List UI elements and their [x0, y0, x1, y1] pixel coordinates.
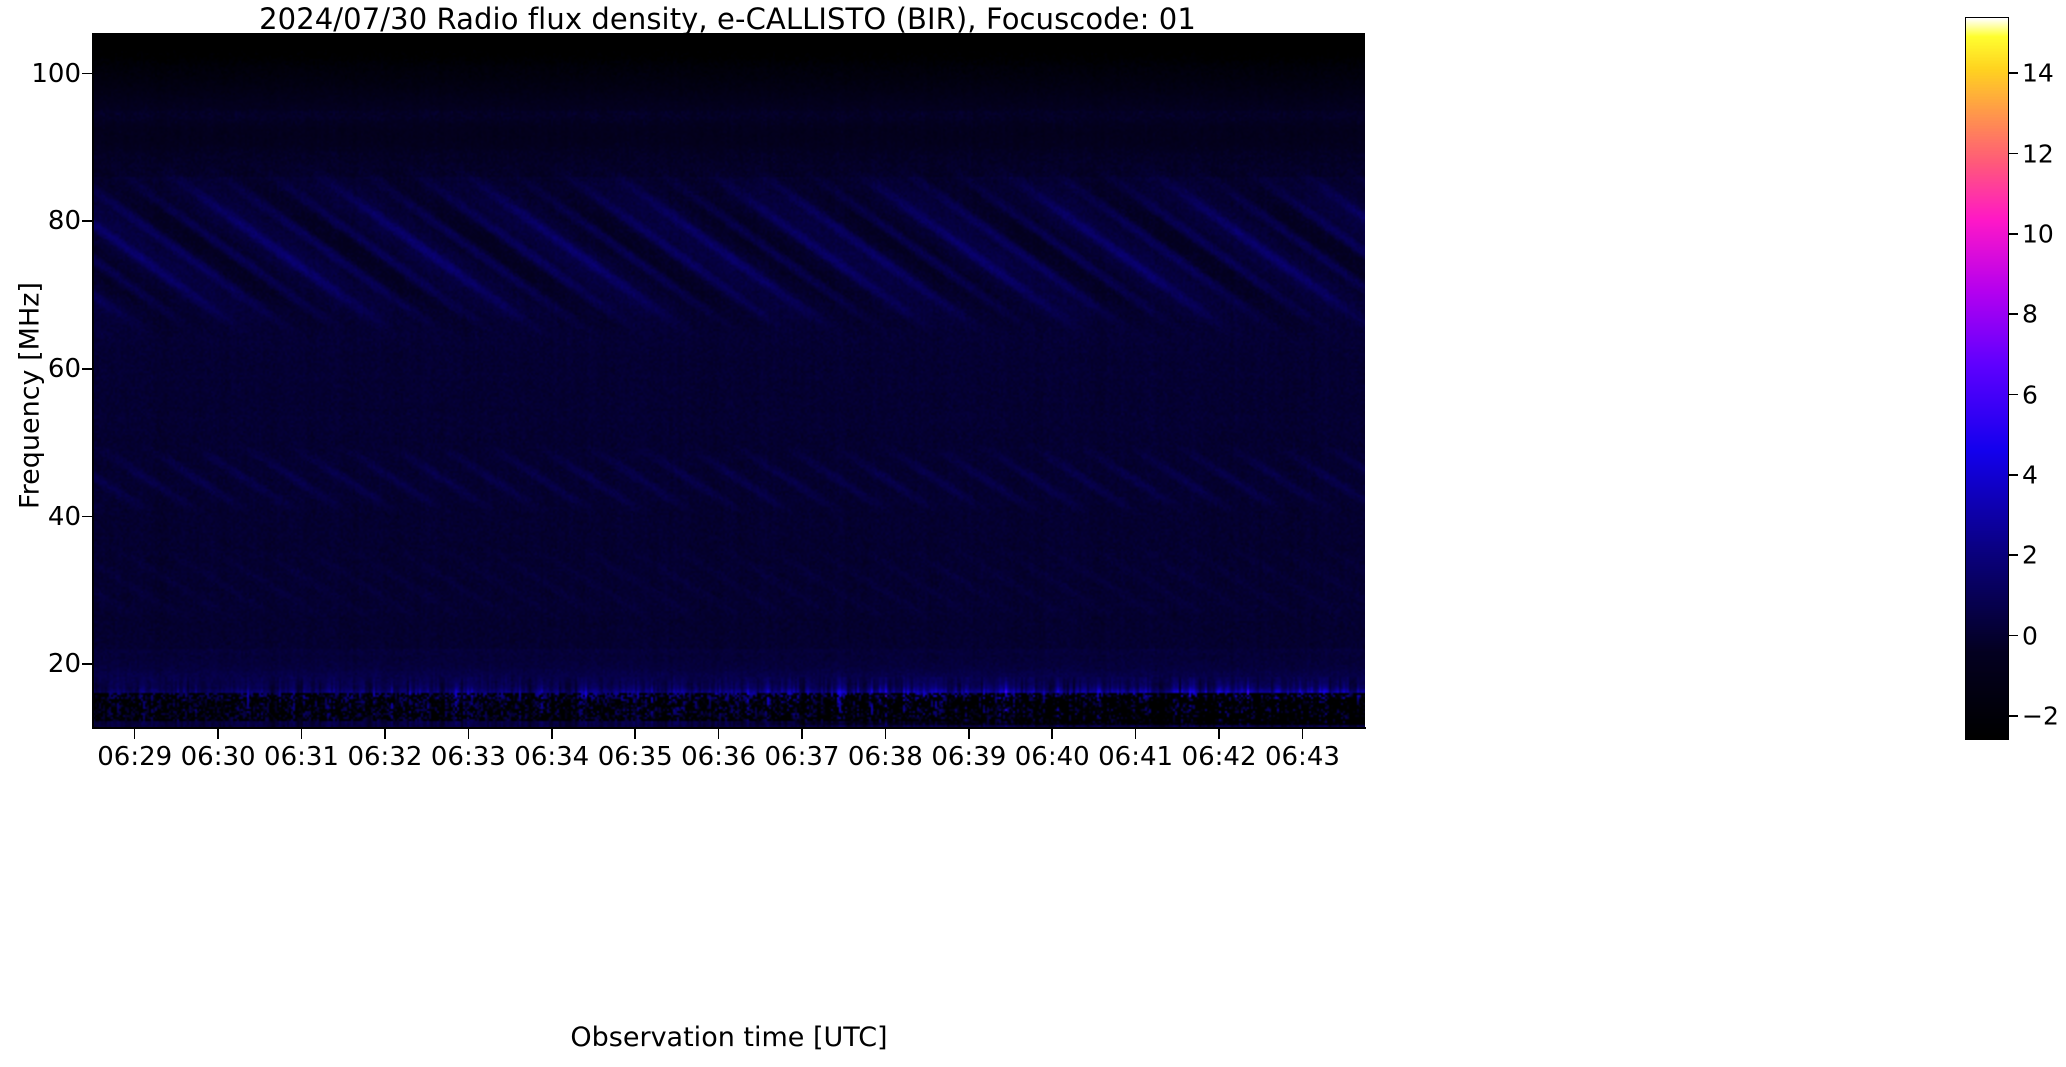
x-tick-label: 06:33: [431, 742, 506, 772]
colorbar-tick-mark: [2009, 72, 2018, 74]
colorbar-tick-mark: [2009, 313, 2018, 315]
x-tick-mark: [801, 728, 803, 739]
x-tick-mark: [968, 728, 970, 739]
colorbar-tick-label: 0: [2022, 621, 2038, 650]
y-axis-spine: [92, 33, 94, 728]
x-tick-mark: [634, 728, 636, 739]
x-tick-mark: [551, 728, 553, 739]
x-tick-label: 06:30: [181, 742, 256, 772]
colorbar-tick-label: 8: [2022, 300, 2038, 329]
colorbar-tick-mark: [2009, 635, 2018, 637]
y-tick-mark: [82, 516, 93, 518]
x-tick-label: 06:39: [931, 742, 1006, 772]
y-tick-mark: [82, 73, 93, 75]
y-tick-mark: [82, 220, 93, 222]
colorbar-tick-mark: [2009, 153, 2018, 155]
colorbar-tick-mark: [2009, 474, 2018, 476]
colorbar-tick-label: 10: [2022, 219, 2054, 248]
x-tick-mark: [1051, 728, 1053, 739]
spectrogram-plot: [93, 33, 1365, 727]
y-tick-label: 80: [48, 206, 81, 236]
colorbar: [1965, 17, 2009, 740]
x-tick-mark: [885, 728, 887, 739]
x-tick-mark: [217, 728, 219, 739]
colorbar-tick-label: 6: [2022, 380, 2038, 409]
x-tick-mark: [718, 728, 720, 739]
x-tick-label: 06:42: [1182, 742, 1257, 772]
colorbar-tick-mark: [2009, 554, 2018, 556]
x-tick-label: 06:36: [681, 742, 756, 772]
y-tick-mark: [82, 368, 93, 370]
y-tick-label: 100: [31, 59, 81, 89]
colorbar-tick-mark: [2009, 715, 2018, 717]
colorbar-gradient: [1966, 18, 2008, 739]
x-tick-label: 06:34: [514, 742, 589, 772]
y-tick-label: 60: [48, 354, 81, 384]
colorbar-tick-label: 4: [2022, 460, 2038, 489]
x-tick-mark: [1218, 728, 1220, 739]
x-tick-mark: [134, 728, 136, 739]
x-tick-label: 06:41: [1098, 742, 1173, 772]
x-tick-label: 06:32: [347, 742, 422, 772]
y-tick-label: 20: [48, 649, 81, 679]
colorbar-tick-label: 14: [2022, 59, 2054, 88]
x-axis-label: Observation time [UTC]: [93, 1022, 1365, 1053]
figure-title: 2024/07/30 Radio flux density, e-CALLIST…: [0, 2, 1455, 36]
x-tick-mark: [384, 728, 386, 739]
x-tick-label: 06:40: [1015, 742, 1090, 772]
y-axis-label: Frequency [MHz]: [15, 226, 46, 566]
x-tick-label: 06:43: [1265, 742, 1340, 772]
colorbar-tick-label: −2: [2022, 701, 2059, 730]
y-tick-mark: [82, 663, 93, 665]
x-tick-label: 06:37: [765, 742, 840, 772]
y-tick-label: 40: [48, 502, 81, 532]
spectrogram-figure: 2024/07/30 Radio flux density, e-CALLIST…: [0, 0, 2066, 1067]
x-tick-mark: [1302, 728, 1304, 739]
x-tick-label: 06:38: [848, 742, 923, 772]
colorbar-tick-label: 2: [2022, 541, 2038, 570]
x-tick-label: 06:31: [264, 742, 339, 772]
x-axis-spine: [92, 727, 1366, 729]
colorbar-tick-label: 12: [2022, 139, 2054, 168]
x-tick-mark: [1135, 728, 1137, 739]
x-tick-label: 06:29: [97, 742, 172, 772]
colorbar-tick-mark: [2009, 233, 2018, 235]
x-tick-label: 06:35: [598, 742, 673, 772]
spectrogram-canvas: [93, 33, 1365, 727]
x-tick-mark: [468, 728, 470, 739]
x-tick-mark: [301, 728, 303, 739]
colorbar-tick-mark: [2009, 394, 2018, 396]
